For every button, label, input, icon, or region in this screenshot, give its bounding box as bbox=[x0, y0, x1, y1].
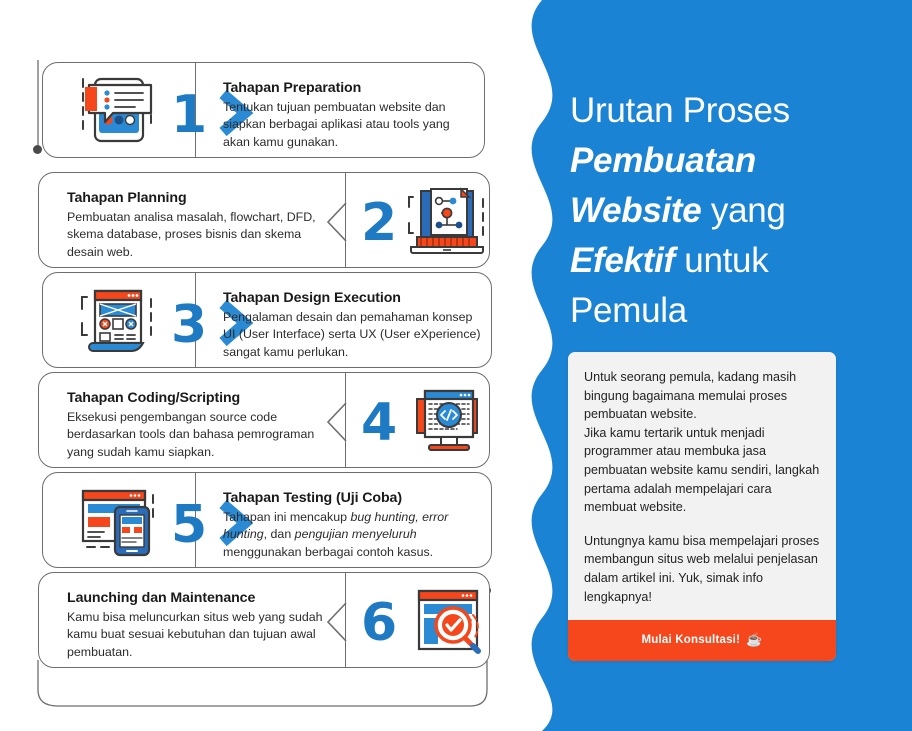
blue-panel: Urutan Proses Pembuatan Website yang Efe… bbox=[492, 0, 912, 731]
step-body: Kamu bisa meluncurkan situs web yang sud… bbox=[67, 609, 339, 661]
chevron-left-icon bbox=[320, 600, 352, 644]
step-text: Tahapan Coding/Scripting Eksekusi pengem… bbox=[67, 390, 339, 461]
info-paragraph-1: Untuk seorang pemula, kadang masih bingu… bbox=[584, 368, 820, 424]
laptop-flowchart-icon bbox=[401, 183, 493, 264]
headline-line-5: Pemula bbox=[570, 291, 687, 330]
step-body: Tentukan tujuan pembuatan website dan si… bbox=[223, 99, 475, 151]
step-number: 2 bbox=[361, 197, 397, 249]
step-text: Tahapan Testing (Uji Coba) Tahapan ini m… bbox=[223, 490, 485, 561]
step-card-6[interactable]: Launching dan Maintenance Kamu bisa melu… bbox=[38, 572, 490, 668]
headline-line-3-regular: yang bbox=[701, 191, 785, 230]
info-card: Untuk seorang pemula, kadang masih bingu… bbox=[568, 352, 836, 661]
step-card-3[interactable]: 3 Tahapan Design Execution Pengalaman de… bbox=[42, 272, 492, 368]
step-number: 5 bbox=[171, 499, 207, 551]
step-card-2[interactable]: Tahapan Planning Pembuatan analisa masal… bbox=[38, 172, 490, 268]
step-card-5[interactable]: 5 Tahapan Testing (Uji Coba) Tahapan ini… bbox=[42, 472, 492, 568]
step-body: Pengalaman desain dan pemahaman konsep U… bbox=[223, 309, 485, 361]
step-title: Tahapan Preparation bbox=[223, 80, 475, 96]
info-paragraph-2: Jika kamu tertarik untuk menjadi program… bbox=[584, 424, 820, 517]
browser-search-check-icon bbox=[405, 585, 493, 662]
step-number: 1 bbox=[171, 89, 207, 141]
chevron-left-icon bbox=[320, 200, 352, 244]
step-card-4[interactable]: Tahapan Coding/Scripting Eksekusi pengem… bbox=[38, 372, 490, 468]
wireframe-mockup-icon bbox=[65, 285, 169, 362]
step-card-1[interactable]: 1 Tahapan Preparation Tentukan tujuan pe… bbox=[42, 62, 485, 158]
info-card-body: Untuk seorang pemula, kadang masih bingu… bbox=[568, 352, 836, 620]
tablet-checklist-icon bbox=[57, 73, 177, 154]
headline-line-1: Urutan Proses bbox=[570, 91, 790, 130]
step-text: Tahapan Design Execution Pengalaman desa… bbox=[223, 290, 485, 361]
step-number: 6 bbox=[361, 597, 397, 649]
step-body: Pembuatan analisa masalah, flowchart, DF… bbox=[67, 209, 335, 261]
coffee-cup-icon: ☕ bbox=[746, 632, 762, 647]
step-title: Tahapan Design Execution bbox=[223, 290, 485, 306]
monitor-code-icon bbox=[403, 385, 495, 462]
headline-line-2: Pembuatan bbox=[570, 141, 756, 180]
connector-dot-start bbox=[33, 145, 42, 154]
browser-mobile-testing-icon bbox=[63, 485, 171, 562]
step-title: Launching dan Maintenance bbox=[67, 590, 339, 606]
chevron-left-icon bbox=[320, 400, 352, 444]
mulai-konsultasi-button[interactable]: Mulai Konsultasi!☕ bbox=[568, 620, 836, 661]
step-body: Tahapan ini mencakup bug hunting, error … bbox=[223, 509, 485, 561]
headline-line-4-emphasis: Efektif bbox=[570, 241, 675, 280]
headline-line-4-regular: untuk bbox=[675, 241, 769, 280]
step-text: Tahapan Preparation Tentukan tujuan pemb… bbox=[223, 80, 475, 151]
step-title: Tahapan Planning bbox=[67, 190, 335, 206]
cta-label: Mulai Konsultasi! bbox=[642, 634, 741, 646]
step-number: 4 bbox=[361, 397, 397, 449]
step-text: Launching dan Maintenance Kamu bisa melu… bbox=[67, 590, 339, 661]
page-title: Urutan Proses Pembuatan Website yang Efe… bbox=[570, 86, 870, 336]
process-flow: 1 Tahapan Preparation Tentukan tujuan pe… bbox=[0, 0, 540, 731]
step-title: Tahapan Coding/Scripting bbox=[67, 390, 339, 406]
step-body: Eksekusi pengembangan source code berdas… bbox=[67, 409, 339, 461]
step-number: 3 bbox=[171, 299, 207, 351]
info-paragraph-3: Untungnya kamu bisa mempelajari proses m… bbox=[584, 532, 820, 606]
headline-line-3-emphasis: Website bbox=[570, 191, 701, 230]
step-text: Tahapan Planning Pembuatan analisa masal… bbox=[67, 190, 335, 261]
infographic-root: 1 Tahapan Preparation Tentukan tujuan pe… bbox=[0, 0, 912, 731]
step-title: Tahapan Testing (Uji Coba) bbox=[223, 490, 485, 506]
